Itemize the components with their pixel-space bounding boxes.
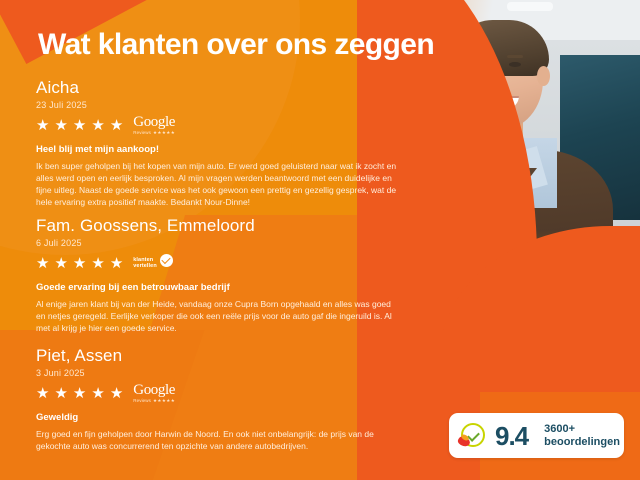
review-meta: ★ ★ ★ ★ ★ Google Reviews ★★★★★ [36,383,414,403]
klantenvertellen-logo: klanten vertellen [133,254,173,273]
star-icon: ★ [91,256,104,271]
klantenvertellen-line2: vertellen [133,263,157,269]
star-icon: ★ [110,256,123,271]
star-icon: ★ [91,386,104,401]
google-wordmark: Google [133,383,185,398]
review-body: Ik ben super geholpen bij het kopen van … [36,160,402,208]
star-icon: ★ [36,386,49,401]
klantenvertellen-wordmark: klanten vertellen [133,257,157,269]
review-date: 3 Juni 2025 [36,368,414,379]
google-reviews-logo: Google Reviews ★★★★★ [133,115,185,135]
rating-badge: 9.4 3600+ beoordelingen [449,413,624,458]
star-icon: ★ [73,256,86,271]
check-circle-icon [160,254,173,267]
star-icon: ★ [54,386,67,401]
review-body: Al enige jaren klant bij van der Heide, … [36,298,402,334]
star-rating: ★ ★ ★ ★ ★ [36,386,123,401]
review-body: Erg goed en fijn geholpen door Harwin de… [36,428,402,452]
rating-count-block: 3600+ beoordelingen [544,423,620,449]
review-meta: ★ ★ ★ ★ ★ Google Reviews ★★★★★ [36,115,414,135]
google-reviews-sub: Reviews ★★★★★ [133,130,185,135]
google-reviews-stars: ★★★★★ [153,398,175,403]
review-title: Geweldig [36,412,414,424]
star-icon: ★ [36,118,49,133]
promo-banner: VDH VDH [0,0,640,480]
rating-count-label: beoordelingen [544,436,620,449]
star-icon: ★ [91,118,104,133]
star-icon: ★ [73,386,86,401]
content-layer: Wat klanten over ons zeggen Aicha 23 Jul… [0,0,640,480]
google-reviews-logo: Google Reviews ★★★★★ [133,383,185,403]
rating-score: 9.4 [495,423,528,449]
review-date: 23 Juli 2025 [36,100,414,111]
review-card: Fam. Goossens, Emmeloord 6 Juli 2025 ★ ★… [36,216,414,334]
page-title: Wat klanten over ons zeggen [38,30,434,60]
star-icon: ★ [54,256,67,271]
google-reviews-label: Reviews [133,130,151,135]
google-reviews-sub: Reviews ★★★★★ [133,398,185,403]
star-icon: ★ [73,118,86,133]
google-reviews-stars: ★★★★★ [153,130,175,135]
star-icon: ★ [110,118,123,133]
star-rating: ★ ★ ★ ★ ★ [36,256,123,271]
star-icon: ★ [54,118,67,133]
rating-count: 3600+ [544,423,620,436]
kieskeurig-logo-icon [459,422,487,450]
reviewer-name: Fam. Goossens, Emmeloord [36,216,414,236]
check-icon [162,255,171,264]
reviewer-name: Aicha [36,78,414,98]
review-title: Heel blij met mijn aankoop! [36,144,414,156]
star-icon: ★ [110,386,123,401]
star-rating: ★ ★ ★ ★ ★ [36,118,123,133]
review-card: Aicha 23 Juli 2025 ★ ★ ★ ★ ★ Google Revi… [36,78,414,208]
reviewer-name: Piet, Assen [36,346,414,366]
review-meta: ★ ★ ★ ★ ★ klanten vertellen [36,253,414,273]
review-date: 6 Juli 2025 [36,238,414,249]
review-title: Goede ervaring bij een betrouwbaar bedri… [36,282,414,294]
review-card: Piet, Assen 3 Juni 2025 ★ ★ ★ ★ ★ Google… [36,346,414,452]
google-reviews-label: Reviews [133,398,151,403]
star-icon: ★ [36,256,49,271]
google-wordmark: Google [133,115,185,130]
